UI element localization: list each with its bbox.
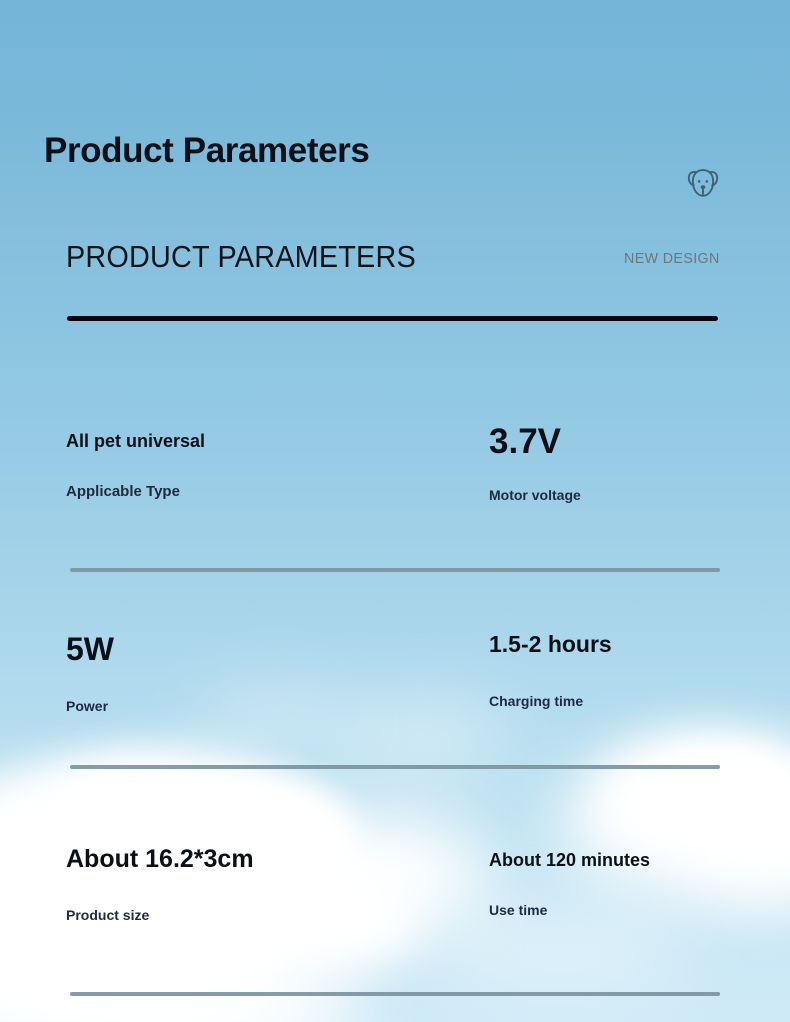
spec-motor-voltage: 3.7V Motor voltage <box>489 424 581 502</box>
spec-product-size: About 16.2*3cm Product size <box>66 847 254 922</box>
spec-charging-time: 1.5-2 hours Charging time <box>489 633 612 708</box>
section-rule <box>67 316 718 321</box>
spec-applicable-type: All pet universal Applicable Type <box>66 432 205 499</box>
dog-face-icon <box>682 162 724 204</box>
spec-label: Charging time <box>489 694 612 708</box>
spec-value: 1.5-2 hours <box>489 633 612 656</box>
row-divider-1 <box>70 568 720 572</box>
row-divider-2 <box>70 765 720 769</box>
spec-label: Applicable Type <box>66 484 205 499</box>
spec-use-time: About 120 minutes Use time <box>489 851 650 917</box>
spec-label: Power <box>66 699 114 713</box>
spec-value: 5W <box>66 633 114 665</box>
spec-value: 3.7V <box>489 424 581 459</box>
spec-value: All pet universal <box>66 432 205 450</box>
section-header: PRODUCT PARAMETERS NEW DESIGN <box>66 238 720 278</box>
section-heading: PRODUCT PARAMETERS <box>66 238 416 277</box>
spec-value: About 120 minutes <box>489 851 650 869</box>
section-tag-new-design: NEW DESIGN <box>624 250 720 267</box>
spec-label: Use time <box>489 903 650 917</box>
row-divider-3 <box>70 992 720 996</box>
spec-power: 5W Power <box>66 633 114 713</box>
spec-value: About 16.2*3cm <box>66 847 254 872</box>
product-parameters-page: Product Parameters PRODUCT PARAMETER <box>0 0 790 1022</box>
page-title: Product Parameters <box>44 133 369 168</box>
spec-label: Product size <box>66 908 254 922</box>
spec-label: Motor voltage <box>489 488 581 502</box>
